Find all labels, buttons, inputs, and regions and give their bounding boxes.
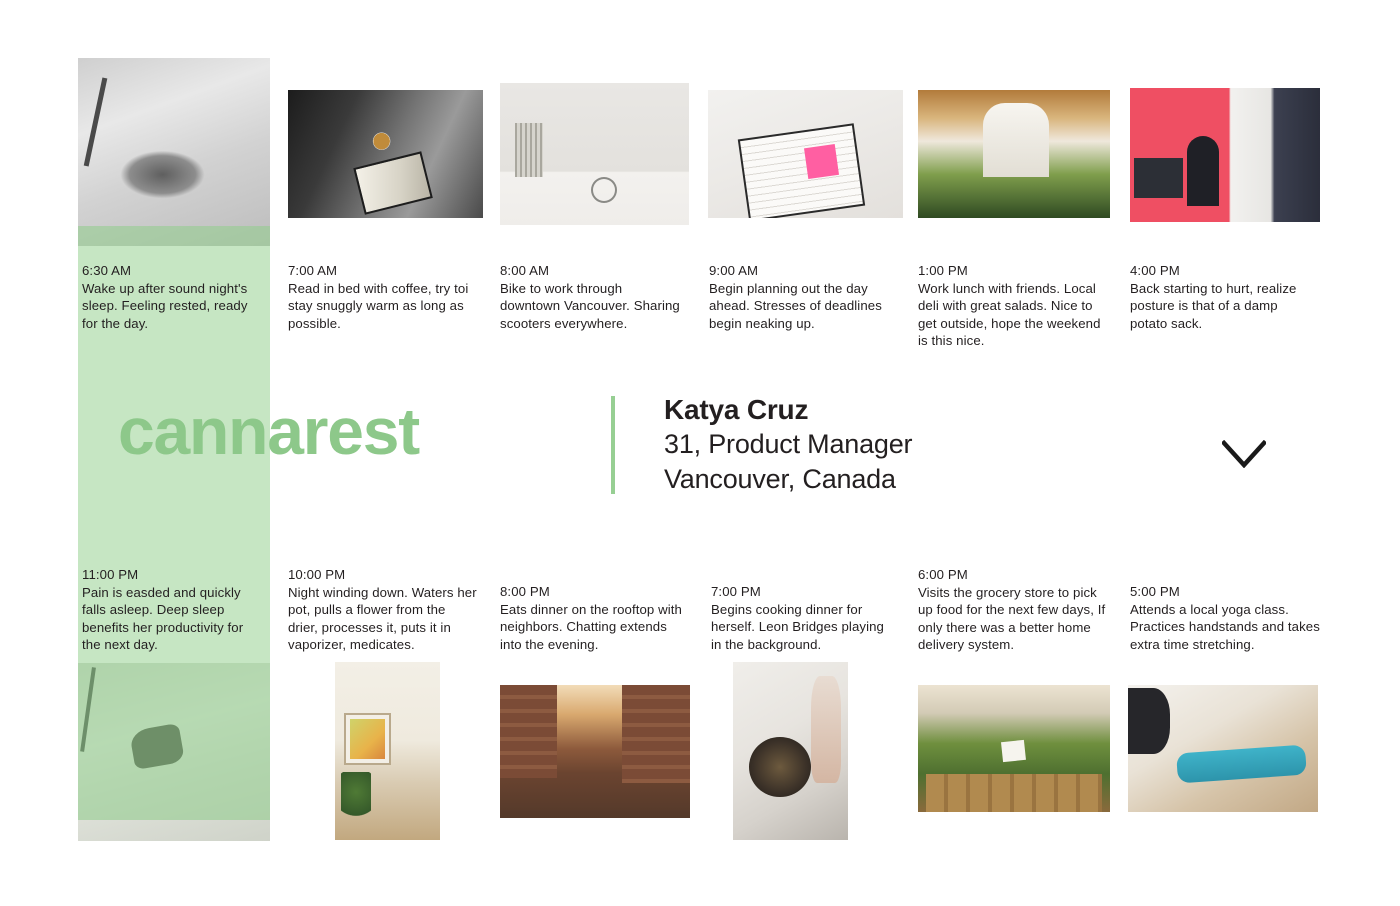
persona-info: Katya Cruz 31, Product Manager Vancouver…: [664, 392, 912, 497]
journey-caption-8: 8:00 PM Eats dinner on the rooftop with …: [500, 583, 686, 653]
journey-time-0: 6:30 AM: [82, 262, 260, 280]
journey-photo-asleep: [78, 663, 270, 841]
journey-time-1: 7:00 AM: [288, 262, 478, 280]
journey-photo-office-desk: [1130, 88, 1320, 222]
journey-time-3: 9:00 AM: [709, 262, 893, 280]
journey-time-7: 10:00 PM: [288, 566, 478, 584]
journey-text-2: Bike to work through downtown Vancouver.…: [500, 280, 684, 333]
photo-art: [1130, 88, 1320, 222]
photo-art: [733, 662, 848, 840]
journey-text-6: Pain is easded and quickly falls asleep.…: [82, 584, 262, 654]
journey-caption-10: 6:00 PM Visits the grocery store to pick…: [918, 566, 1110, 654]
photo-art: [78, 58, 270, 246]
journey-caption-9: 7:00 PM Begins cooking dinner for hersel…: [711, 583, 895, 653]
photo-art: [1128, 685, 1318, 812]
photo-art: [500, 685, 690, 818]
journey-photo-rooftop-dinner: [500, 685, 690, 818]
journey-text-7: Night winding down. Waters her pot, pull…: [288, 584, 478, 654]
journey-caption-1: 7:00 AM Read in bed with coffee, try toi…: [288, 262, 478, 332]
journey-caption-7: 10:00 PM Night winding down. Waters her …: [288, 566, 478, 654]
journey-caption-3: 9:00 AM Begin planning out the day ahead…: [709, 262, 893, 332]
journey-caption-2: 8:00 AM Bike to work through downtown Va…: [500, 262, 684, 332]
journey-caption-11: 5:00 PM Attends a local yoga class. Prac…: [1130, 583, 1320, 653]
journey-photo-grocery-market: [918, 685, 1110, 812]
journey-text-4: Work lunch with friends. Local deli with…: [918, 280, 1108, 350]
photo-art: [78, 663, 270, 841]
journey-text-5: Back starting to hurt, realize posture i…: [1130, 280, 1316, 333]
journey-text-8: Eats dinner on the rooftop with neighbor…: [500, 601, 686, 654]
journey-text-11: Attends a local yoga class. Practices ha…: [1130, 601, 1320, 654]
journey-time-10: 6:00 PM: [918, 566, 1110, 584]
journey-caption-5: 4:00 PM Back starting to hurt, realize p…: [1130, 262, 1316, 332]
journey-time-5: 4:00 PM: [1130, 262, 1316, 280]
photo-art: [918, 90, 1110, 218]
journey-text-10: Visits the grocery store to pick up food…: [918, 584, 1110, 654]
journey-text-1: Read in bed with coffee, try toi stay sn…: [288, 280, 478, 333]
journey-photo-coffee-in-bed: [288, 90, 483, 218]
journey-time-4: 1:00 PM: [918, 262, 1108, 280]
journey-photo-wake-up: [78, 58, 270, 246]
journey-photo-yoga-mat: [1128, 685, 1318, 812]
journey-photo-planner: [708, 90, 903, 218]
journey-photo-living-room: [335, 662, 440, 840]
photo-art: [500, 83, 689, 225]
journey-photo-bike-downtown: [500, 83, 689, 225]
brand-divider: [611, 396, 615, 494]
persona-role: 31, Product Manager: [664, 427, 912, 462]
journey-caption-0: 6:30 AM Wake up after sound night's slee…: [82, 262, 260, 332]
persona-location: Vancouver, Canada: [664, 462, 912, 497]
brand-logo: cannarest: [118, 398, 419, 464]
journey-text-9: Begins cooking dinner for herself. Leon …: [711, 601, 895, 654]
journey-time-8: 8:00 PM: [500, 583, 686, 601]
photo-art: [288, 90, 483, 218]
journey-text-3: Begin planning out the day ahead. Stress…: [709, 280, 893, 333]
journey-time-9: 7:00 PM: [711, 583, 895, 601]
photo-art: [335, 662, 440, 840]
journey-caption-4: 1:00 PM Work lunch with friends. Local d…: [918, 262, 1108, 350]
photo-art: [708, 90, 903, 218]
journey-photo-cooking: [733, 662, 848, 840]
journey-time-6: 11:00 PM: [82, 566, 262, 584]
persona-name: Katya Cruz: [664, 392, 912, 427]
journey-text-0: Wake up after sound night's sleep. Feeli…: [82, 280, 260, 333]
journey-time-2: 8:00 AM: [500, 262, 684, 280]
journey-caption-6: 11:00 PM Pain is easded and quickly fall…: [82, 566, 262, 654]
chevron-down-icon[interactable]: [1222, 440, 1266, 468]
photo-art: [918, 685, 1110, 812]
journey-photo-work-lunch: [918, 90, 1110, 218]
journey-time-11: 5:00 PM: [1130, 583, 1320, 601]
